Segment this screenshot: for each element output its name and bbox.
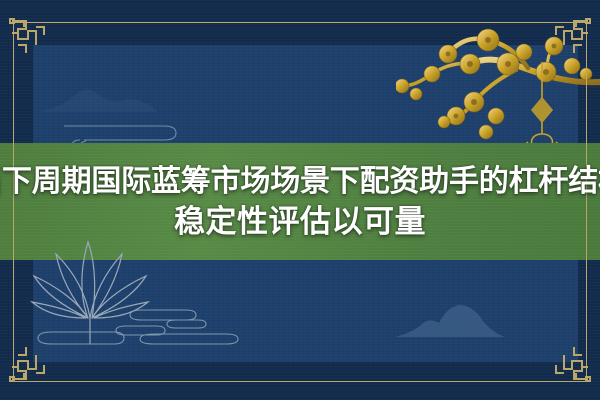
title-line-2: 稳定性评估以可量	[174, 202, 426, 242]
banner-title: 当下周期国际蓝筹市场场景下配资助手的杠杆结构 稳定性评估以可量	[0, 143, 600, 260]
title-line-1: 当下周期国际蓝筹市场场景下配资助手的杠杆结构	[0, 162, 600, 202]
decorative-banner: 当下周期国际蓝筹市场场景下配资助手的杠杆结构 稳定性评估以可量	[0, 0, 600, 400]
